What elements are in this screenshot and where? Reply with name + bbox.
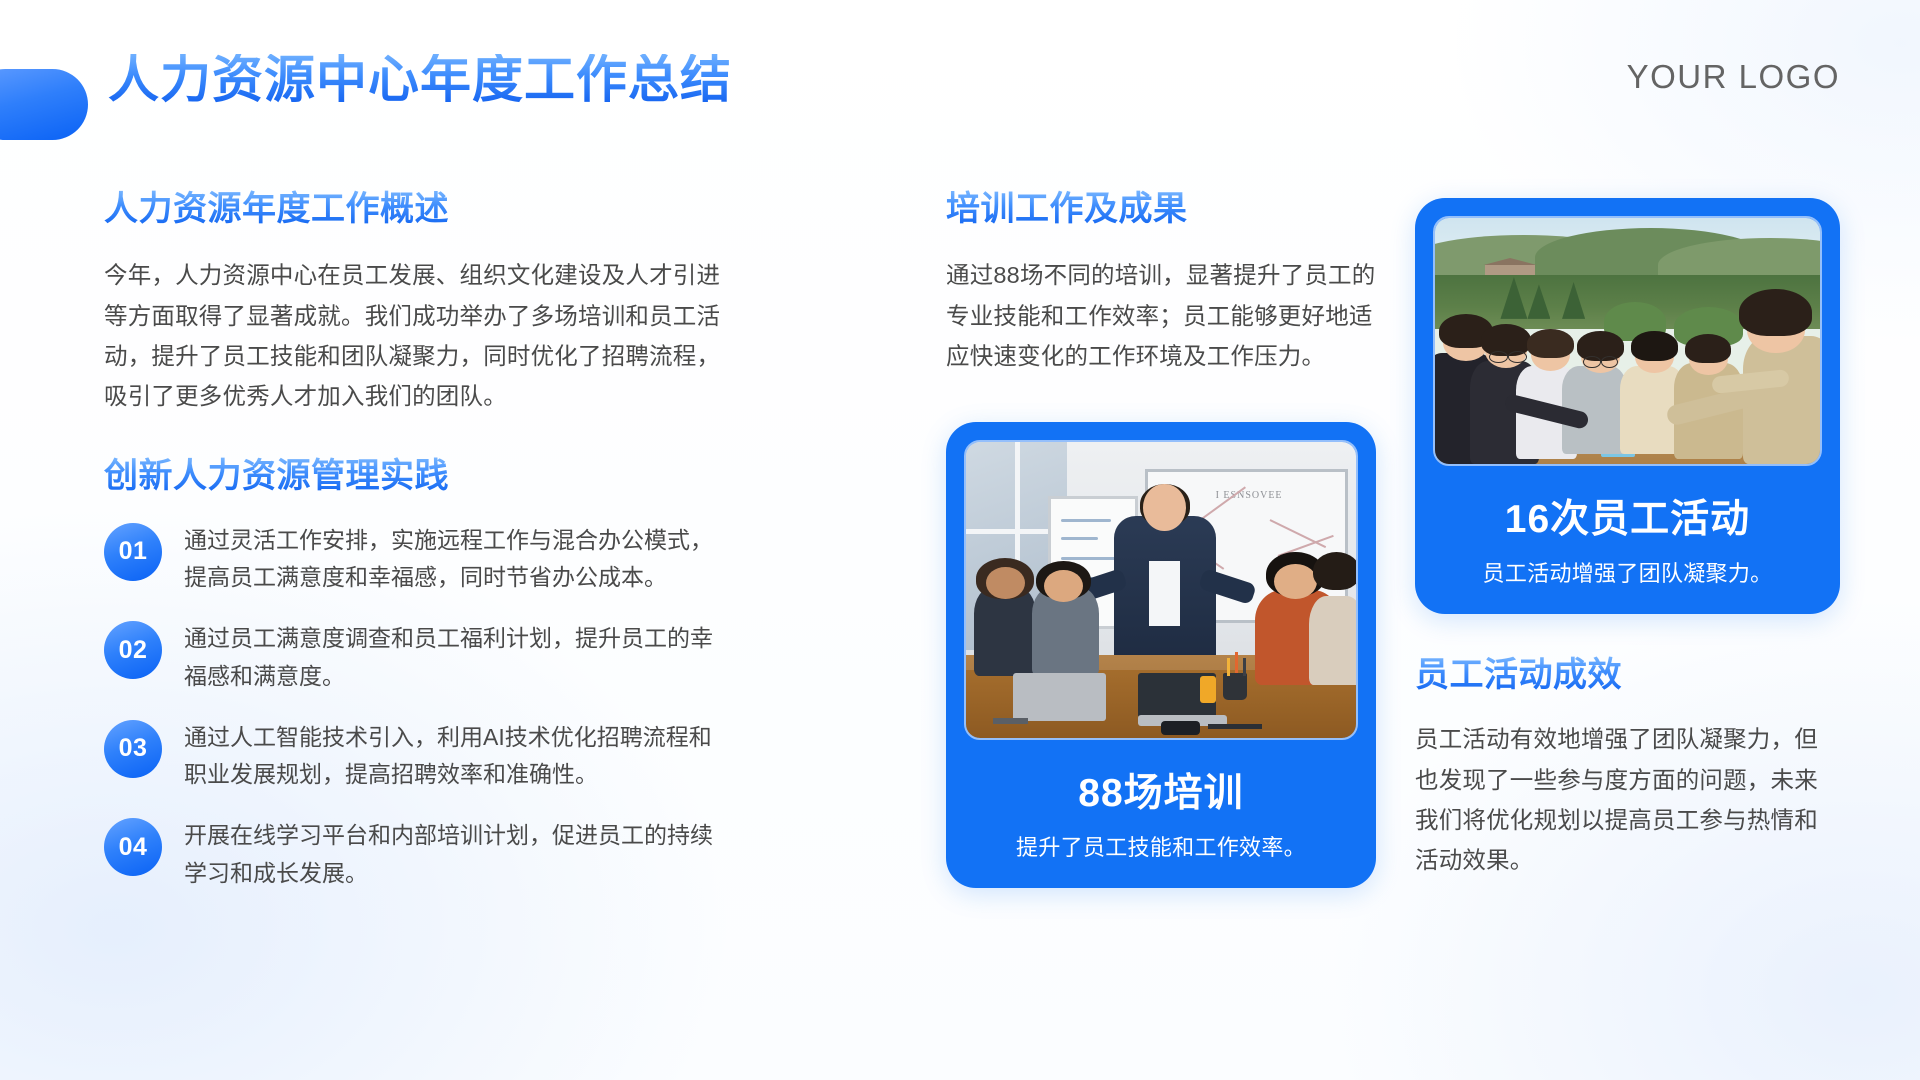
activity-stat-value: 16次员工活动 [1433,488,1822,544]
list-item-number-badge: 03 [104,720,162,778]
overview-heading: 人力资源年度工作概述 [104,190,724,229]
overview-paragraph: 今年，人力资源中心在员工发展、组织文化建设及人才引进等方面取得了显著成就。我们成… [104,255,724,417]
practices-heading: 创新人力资源管理实践 [104,457,724,496]
list-item-text: 开展在线学习平台和内部培训计划，促进员工的持续学习和成长发展。 [184,815,724,892]
list-item-text: 通过人工智能技术引入，利用AI技术优化招聘流程和职业发展规划，提高招聘效率和准确… [184,717,724,794]
list-item[interactable]: 03 通过人工智能技术引入，利用AI技术优化招聘流程和职业发展规划，提高招聘效率… [104,717,724,794]
middle-column: 培训工作及成果 通过88场不同的培训，显著提升了员工的专业技能和工作效率；员工能… [946,190,1376,888]
activity-stat-card[interactable]: 16次员工活动 员工活动增强了团队凝聚力。 [1415,198,1840,614]
list-item[interactable]: 04 开展在线学习平台和内部培训计划，促进员工的持续学习和成长发展。 [104,815,724,892]
activity-photo-illustration [1435,218,1820,464]
practices-list: 01 通过灵活工作安排，实施远程工作与混合办公模式，提高员工满意度和幸福感，同时… [104,520,724,892]
list-item-text: 通过员工满意度调查和员工福利计划，提升员工的幸福感和满意度。 [184,618,724,695]
effect-paragraph: 员工活动有效地增强了团队凝聚力，但也发现了一些参与度方面的问题，未来我们将优化规… [1415,719,1840,881]
list-item[interactable]: 01 通过灵活工作安排，实施远程工作与混合办公模式，提高员工满意度和幸福感，同时… [104,520,724,597]
training-photo-illustration: I ESNSOVEE [966,442,1356,738]
effect-heading: 员工活动成效 [1415,656,1840,695]
activity-photo [1433,216,1822,466]
logo-placeholder: YOUR LOGO [1627,58,1840,96]
training-photo: I ESNSOVEE [964,440,1358,740]
list-item-number-badge: 02 [104,621,162,679]
list-item-number-badge: 04 [104,818,162,876]
header-accent-tab [0,69,88,140]
activity-stat-desc: 员工活动增强了团队凝聚力。 [1433,556,1822,588]
training-paragraph: 通过88场不同的培训，显著提升了员工的专业技能和工作效率；员工能够更好地适应快速… [946,255,1376,376]
page-title: 人力资源中心年度工作总结 [108,54,732,105]
list-item-text: 通过灵活工作安排，实施远程工作与混合办公模式，提高员工满意度和幸福感，同时节省办… [184,520,724,597]
training-stat-value: 88场培训 [964,762,1358,818]
list-item-number-badge: 01 [104,523,162,581]
list-item[interactable]: 02 通过员工满意度调查和员工福利计划，提升员工的幸福感和满意度。 [104,618,724,695]
left-column: 人力资源年度工作概述 今年，人力资源中心在员工发展、组织文化建设及人才引进等方面… [104,190,724,914]
training-stat-desc: 提升了员工技能和工作效率。 [964,830,1358,862]
training-heading: 培训工作及成果 [946,190,1376,229]
right-column: 16次员工活动 员工活动增强了团队凝聚力。 员工活动成效 员工活动有效地增强了团… [1415,198,1840,881]
training-stat-card[interactable]: I ESNSOVEE [946,422,1376,888]
